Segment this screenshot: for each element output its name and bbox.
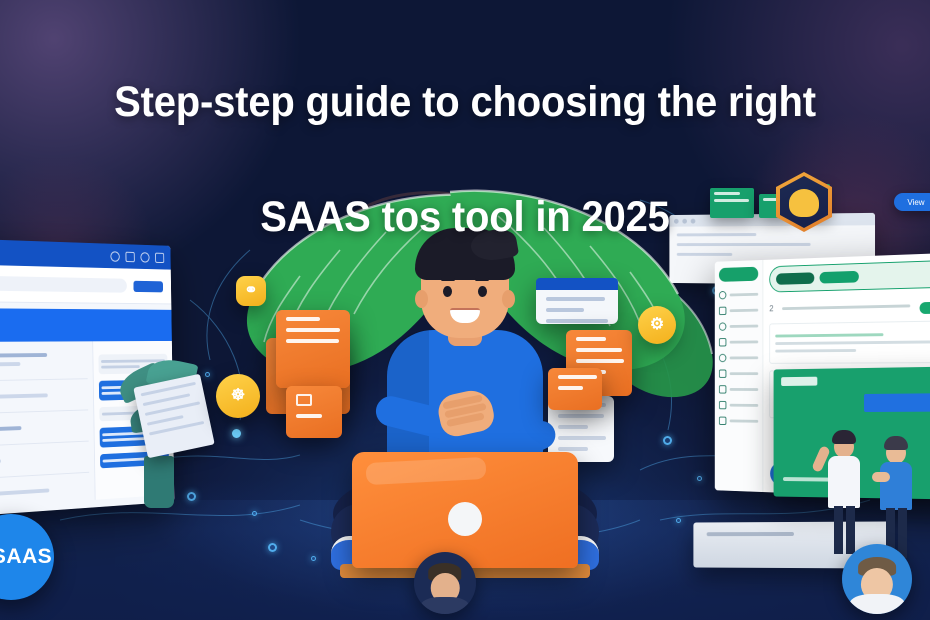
list-item — [0, 353, 47, 358]
folder-icon — [719, 370, 726, 378]
sidebar-item[interactable] — [719, 338, 758, 347]
sidebar-item[interactable] — [719, 354, 758, 363]
avatar-center-bottom[interactable] — [414, 552, 476, 614]
divider — [0, 472, 89, 481]
chart-icon — [719, 338, 726, 346]
list-column — [0, 341, 95, 510]
panel-tag — [781, 377, 817, 386]
sidebar-item[interactable] — [719, 401, 758, 410]
laptop-lid — [352, 452, 578, 568]
user-icon — [719, 322, 726, 330]
list-item — [0, 488, 50, 498]
gear-icon: ⚙ — [650, 317, 664, 333]
list-item — [0, 362, 20, 367]
list-icon — [719, 307, 726, 315]
headline-line-1: Step-step guide to choosing the right — [38, 74, 892, 132]
network-node — [663, 436, 672, 445]
avatar-right-bottom[interactable] — [842, 544, 912, 614]
person-standing-left — [820, 430, 868, 554]
network-icon-badge[interactable]: ☸ — [216, 374, 260, 418]
paper-stack — [133, 374, 214, 459]
content-card — [769, 320, 930, 364]
view-pill-button[interactable]: View — [894, 193, 930, 211]
divider — [0, 409, 88, 414]
doc-icon — [719, 385, 726, 393]
network-node — [697, 476, 702, 481]
sidebar-item[interactable] — [719, 385, 758, 394]
laptop-logo — [448, 502, 482, 536]
person-standing-right — [870, 432, 920, 558]
device-label — [707, 532, 794, 536]
list-item — [0, 393, 48, 399]
list-item — [0, 426, 21, 433]
gear-icon — [719, 417, 726, 425]
network-node — [268, 543, 277, 552]
card-orange-right-b[interactable] — [548, 368, 602, 410]
network-node — [232, 429, 241, 438]
page-title: Step-step guide to choosing the right SA… — [33, 16, 898, 304]
headline-line-2: SAAS tos tool in 2025 — [38, 189, 892, 247]
calendar-icon — [719, 401, 726, 409]
list-item — [0, 459, 1, 465]
network-node — [252, 511, 257, 516]
network-node — [676, 518, 681, 523]
settings-icon-badge[interactable]: ⚙ — [638, 306, 676, 344]
sidebar-item[interactable] — [719, 369, 758, 377]
hero-band — [0, 308, 172, 342]
mouth — [450, 308, 480, 323]
network-icon: ☸ — [231, 388, 245, 404]
sidebar-item[interactable] — [719, 322, 758, 331]
plant-pot — [144, 456, 174, 508]
clock-icon — [719, 354, 726, 362]
panel-highlight — [864, 393, 930, 412]
divider — [0, 441, 89, 448]
status-badge — [920, 301, 930, 314]
saas-badge-label: SAAS — [0, 545, 52, 569]
sidebar-item[interactable] — [719, 306, 758, 315]
laptop[interactable] — [352, 452, 578, 568]
divider — [0, 378, 88, 382]
sidebar-item[interactable] — [719, 417, 758, 426]
hero-illustration: Step-step guide to choosing the right SA… — [0, 0, 930, 620]
